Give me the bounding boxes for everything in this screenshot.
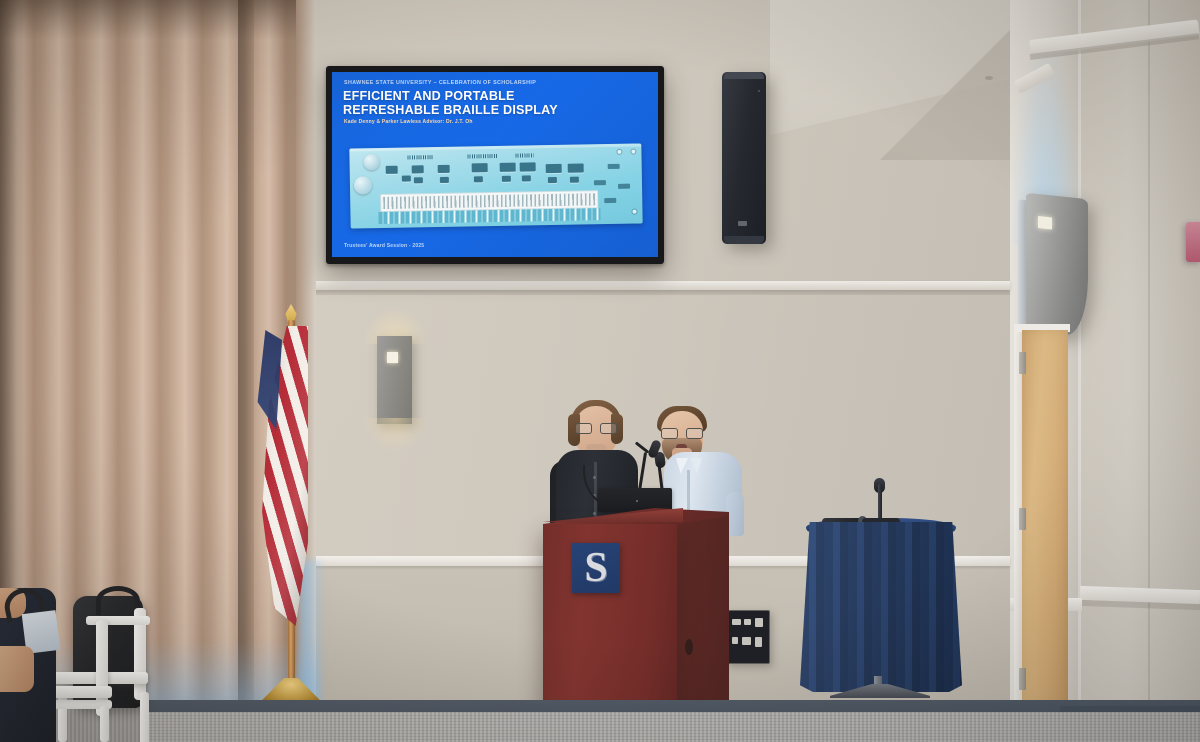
capacitor-icon	[354, 176, 372, 194]
speaker-top-cap	[724, 72, 764, 79]
podium-side-panel	[677, 516, 729, 722]
mounting-hole-icon	[631, 150, 635, 154]
curtain-fold-gap	[238, 0, 254, 715]
slide-authors: Kade Denny & Parker Lawless Advisor: Dr.…	[344, 119, 650, 125]
attendee-arm	[0, 646, 34, 692]
door-hinge-icon	[1019, 352, 1026, 374]
shirt-button-icon	[593, 512, 596, 515]
chair-leg	[100, 706, 109, 742]
eyeglasses-icon	[575, 423, 617, 432]
board-tab-icon	[608, 164, 620, 169]
connector-holes	[383, 193, 595, 209]
ic-chip-icon	[402, 175, 411, 181]
pin-header-icon	[515, 153, 533, 157]
ic-chip-icon	[502, 176, 511, 182]
slide-title-line-1: EFFICIENT AND PORTABLE	[343, 90, 650, 104]
column-speaker	[722, 72, 766, 244]
ic-chip-icon	[386, 166, 398, 174]
lens-left	[575, 423, 592, 434]
ic-chip-icon	[520, 162, 536, 171]
chair-leg	[140, 692, 149, 742]
slide-title-line-2: REFRESHABLE BRAILLE DISPLAY	[343, 104, 650, 118]
av-port-icon	[742, 637, 751, 645]
pin-header-icon	[407, 155, 433, 159]
component-row	[378, 208, 600, 224]
lens-right	[686, 428, 703, 439]
sconce-downlight-glow	[362, 418, 428, 452]
lens-left	[661, 428, 678, 439]
pin-header-icon	[467, 154, 497, 159]
ic-chip-icon	[412, 165, 424, 173]
speaker-indicator-icon	[758, 90, 760, 92]
inductor-icon	[363, 154, 379, 170]
av-port-icon	[755, 618, 763, 627]
presentation-photo: SHAWNEE STATE UNIVERSITY – CELEBRATION O…	[0, 0, 1200, 742]
ic-chip-icon	[570, 177, 579, 183]
door-hinge-icon	[1019, 508, 1026, 530]
presentation-slide: SHAWNEE STATE UNIVERSITY – CELEBRATION O…	[332, 72, 658, 257]
slide-title: EFFICIENT AND PORTABLE REFRESHABLE BRAIL…	[343, 90, 650, 117]
ic-chip-icon	[500, 163, 516, 172]
wall-sconce-right	[1026, 193, 1088, 338]
ceiling-fixture-icon	[985, 76, 993, 80]
circuit-board-image	[349, 143, 642, 228]
upper-wall-molding-shadow	[310, 290, 1010, 295]
av-wall-panel[interactable]	[726, 610, 770, 664]
board-tab-icon	[594, 180, 606, 185]
sconce-window-icon	[1038, 216, 1052, 229]
pcb-top-edge	[349, 143, 641, 151]
podium-cable-grommet	[685, 639, 693, 655]
ic-chip-icon	[414, 177, 423, 183]
wood-door[interactable]	[1022, 330, 1068, 708]
ic-chip-icon	[472, 163, 488, 172]
lens-right	[600, 423, 617, 434]
column-edge	[1078, 0, 1081, 742]
speaker-logo-icon	[738, 221, 747, 226]
logo-letter: S	[572, 543, 620, 593]
ic-chip-icon	[546, 164, 562, 173]
table-linen-shading	[800, 522, 962, 692]
board-tab-icon	[604, 198, 616, 203]
ic-chip-icon	[568, 163, 584, 172]
curtain-top-shadow	[0, 0, 312, 40]
university-logo-plaque: S	[572, 543, 620, 593]
mounting-hole-icon	[632, 210, 636, 214]
eyeglasses-icon	[661, 428, 703, 437]
av-port-icon	[755, 637, 762, 647]
door-hinge-icon	[1019, 668, 1026, 690]
ic-chip-icon	[440, 177, 449, 183]
av-port-icon	[744, 619, 751, 625]
av-port-icon	[732, 637, 738, 644]
wall-object-right	[1186, 222, 1200, 262]
slide-footer: Trustees' Award Session - 2025	[344, 243, 424, 249]
ic-chip-icon	[522, 175, 531, 181]
laptop-indicator-icon	[636, 500, 638, 502]
wall-column-far	[1080, 0, 1200, 742]
slide-eyebrow: SHAWNEE STATE UNIVERSITY – CELEBRATION O…	[344, 80, 648, 86]
speaker-bottom-cap	[724, 236, 764, 244]
wall-sconce-left	[377, 336, 412, 424]
column-seam	[1148, 0, 1150, 742]
board-tab-icon	[618, 184, 630, 189]
ic-chip-icon	[548, 177, 557, 183]
wall-mounted-television[interactable]: SHAWNEE STATE UNIVERSITY – CELEBRATION O…	[326, 66, 664, 264]
ic-chip-icon	[474, 176, 483, 182]
upper-wall-molding	[310, 281, 1010, 290]
av-port-icon	[732, 619, 741, 625]
mounting-hole-icon	[617, 150, 621, 154]
carpet-foreground	[0, 712, 1200, 742]
ic-chip-icon	[438, 165, 450, 173]
sconce-window-icon	[387, 352, 398, 363]
